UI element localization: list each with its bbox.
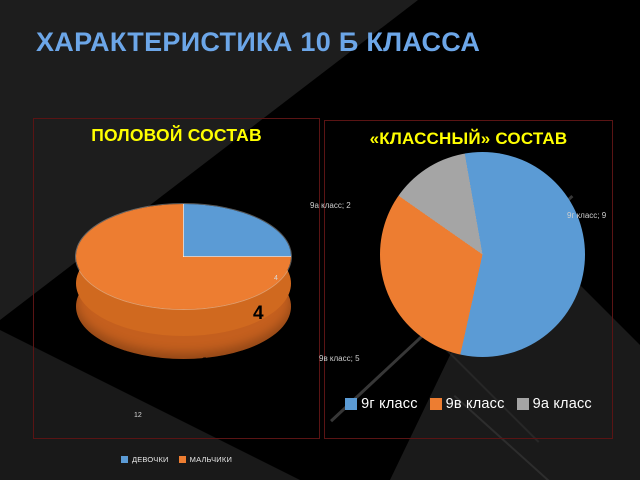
pie-slice-divider-horizontal [183, 256, 291, 257]
pie-data-label-boys: 12 [199, 355, 220, 377]
legend-swatch-icon-9v [430, 398, 442, 410]
legend-swatch-icon-boys [179, 456, 186, 463]
legend-item-girls[interactable]: ДЕВОЧКИ [121, 455, 169, 464]
slide-canvas: ХАРАКТЕРИСТИКА 10 Б КЛАССА ПОЛОВОЙ СОСТА… [0, 0, 640, 480]
legend-label-9a: 9а класс [533, 396, 592, 412]
pie-chart-gender [34, 159, 319, 389]
chart-title-gender: ПОЛОВОЙ СОСТАВ [34, 125, 319, 146]
legend-label-boys: МАЛЬЧИКИ [190, 455, 232, 464]
legend-label-girls: ДЕВОЧКИ [132, 455, 169, 464]
chart-panel-gender: ПОЛОВОЙ СОСТАВ 4 12 4 12 ДЕВОЧКИ МАЛЬЧИК… [33, 118, 320, 439]
legend-item-9v[interactable]: 9в класс [430, 396, 505, 412]
pie-data-label-girls: 4 [253, 303, 264, 325]
legend-item-9a[interactable]: 9а класс [517, 396, 592, 412]
legend-item-9g[interactable]: 9г класс [345, 396, 418, 412]
chart-legend-gender: ДЕВОЧКИ МАЛЬЧИКИ [34, 455, 319, 464]
chart-legend-class: 9г класс 9в класс 9а класс [325, 396, 612, 412]
pie-chart-class [380, 152, 585, 357]
legend-label-9g: 9г класс [361, 396, 418, 412]
page-title: ХАРАКТЕРИСТИКА 10 Б КЛАССА [36, 27, 596, 59]
pie-data-label-9a: 9а класс; 2 [310, 201, 351, 210]
chart-panel-class: «КЛАССНЫЙ» СОСТАВ 9г класс; 9 9а класс; … [324, 120, 613, 439]
legend-swatch-icon-9a [517, 398, 529, 410]
pie-slice-divider-vertical [183, 204, 184, 257]
legend-label-9v: 9в класс [446, 396, 505, 412]
pie-data-label-boys-small: 12 [134, 412, 142, 419]
legend-item-boys[interactable]: МАЛЬЧИКИ [179, 455, 232, 464]
chart-title-class: «КЛАССНЫЙ» СОСТАВ [325, 129, 612, 149]
legend-swatch-icon-girls [121, 456, 128, 463]
pie-data-label-9v: 9в класс; 5 [319, 354, 360, 363]
pie-data-label-girls-small: 4 [274, 275, 278, 282]
pie-data-label-9g: 9г класс; 9 [567, 211, 606, 220]
legend-swatch-icon-9g [345, 398, 357, 410]
